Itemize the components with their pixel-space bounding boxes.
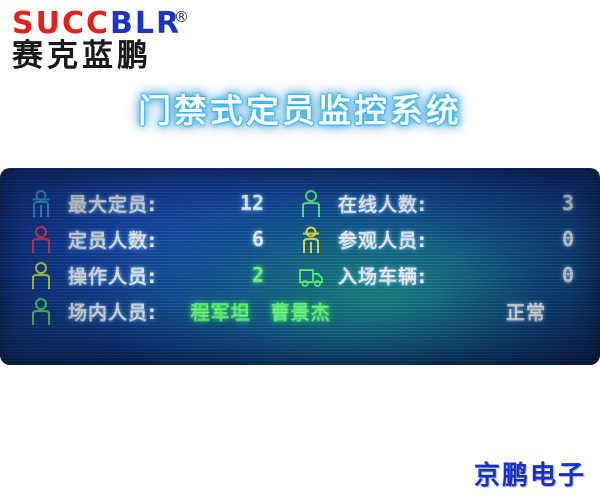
led-value: 0 [562, 263, 600, 287]
led-row: 定员人数: 6 参观人员: 0 [0, 221, 600, 257]
status-badge: 正常 [506, 298, 572, 325]
onsite-names-list: 程军坦 曹景杰 [191, 298, 331, 325]
person-icon [298, 189, 324, 217]
led-value: 0 [562, 227, 600, 251]
brand-logo: SUCCBLR ® 赛克蓝鹏 [8, 6, 218, 76]
led-content-grid: 最大定员: 12 在线人数: 3 [0, 168, 600, 365]
led-label: 入场车辆: [338, 262, 427, 289]
brand-wordmark-succ: SUCC [12, 6, 110, 41]
person-icon [28, 225, 54, 253]
led-field-max-capacity: 最大定员: 12 [0, 185, 290, 221]
led-value: 3 [562, 191, 600, 215]
led-label: 参观人员: [338, 226, 427, 253]
brand-wordmark-blr: BLR [110, 6, 181, 41]
led-display-panel: 最大定员: 12 在线人数: 3 [0, 168, 600, 365]
led-row: 场内人员: 程军坦 曹景杰 正常 [0, 293, 600, 329]
led-label: 定员人数: [68, 226, 157, 253]
list-item: 程军坦 [191, 298, 251, 325]
registered-trademark-icon: ® [174, 8, 189, 26]
led-field-vehicle-count: 入场车辆: 0 [290, 257, 600, 293]
person-icon [28, 297, 54, 325]
led-row: 操作人员: 2 入场车辆: 0 [0, 257, 600, 293]
led-value: 2 [252, 263, 290, 287]
brand-wordmark: SUCCBLR [12, 8, 181, 40]
footer-company-name: 京鹏电子 [474, 455, 586, 492]
led-field-registered-count: 定员人数: 6 [0, 221, 290, 257]
led-row: 最大定员: 12 在线人数: 3 [0, 185, 600, 221]
list-item: 曹景杰 [271, 298, 331, 325]
led-field-visitor-count: 参观人员: 0 [290, 221, 600, 257]
led-label: 场内人员: [68, 298, 157, 325]
led-field-onsite-personnel: 场内人员: 程军坦 曹景杰 正常 [0, 293, 572, 329]
led-field-operator-count: 操作人员: 2 [0, 257, 290, 293]
page-title: 门禁式定员监控系统 [0, 90, 600, 132]
truck-icon [298, 261, 324, 289]
led-value: 12 [240, 191, 290, 215]
person-icon [28, 261, 54, 289]
led-label: 最大定员: [68, 190, 157, 217]
person-hat-icon [298, 225, 324, 253]
led-field-online-count: 在线人数: 3 [290, 185, 600, 221]
led-label: 操作人员: [68, 262, 157, 289]
person-hat-icon [28, 189, 54, 217]
led-value: 6 [252, 227, 290, 251]
brand-chinese-name: 赛克蓝鹏 [12, 39, 152, 73]
led-label: 在线人数: [338, 190, 427, 217]
